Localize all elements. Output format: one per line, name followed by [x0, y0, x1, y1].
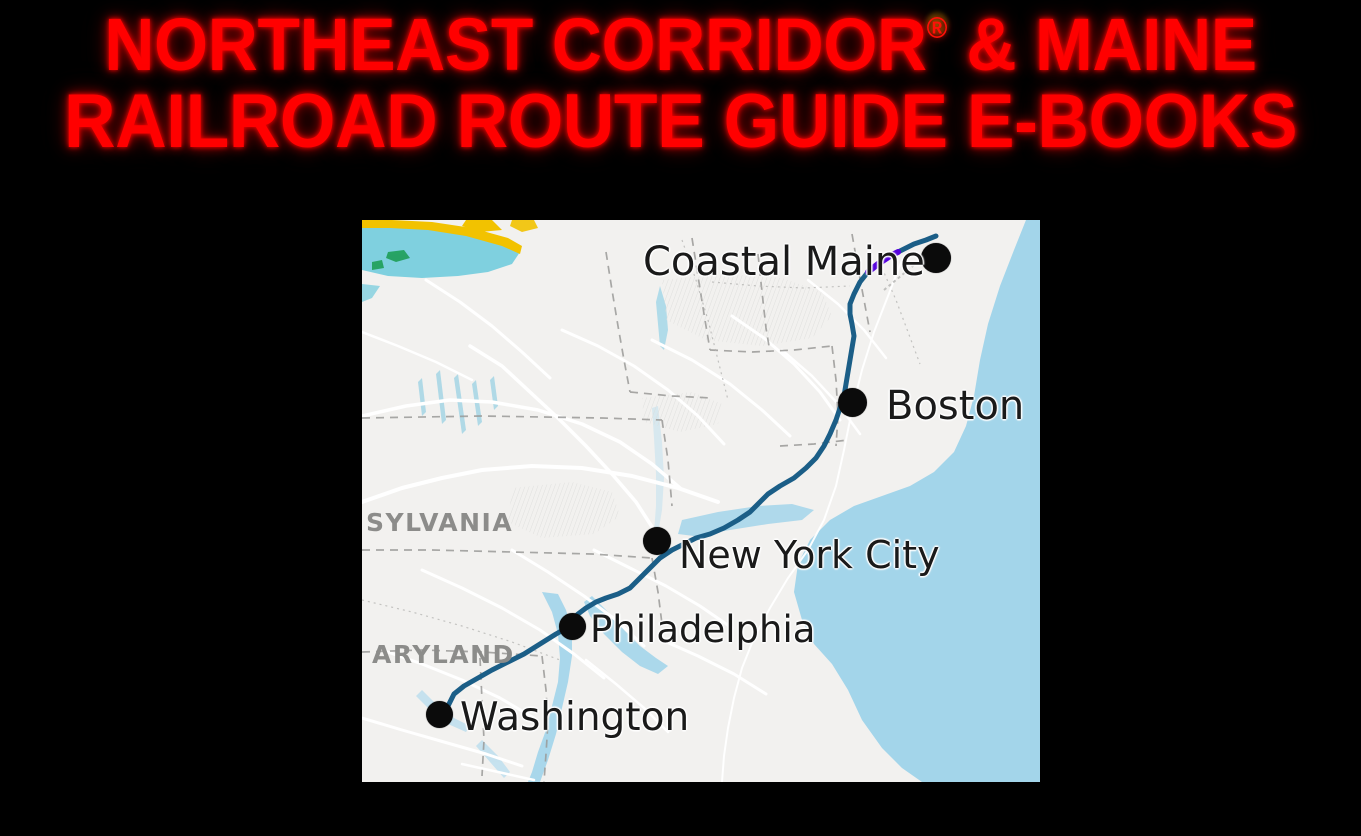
title-line-1-text-before-mark: NORTHEAST CORRIDOR [104, 3, 926, 86]
city-label-boston: Boston [886, 383, 1024, 429]
title-line-1-text-after-mark: & MAINE [947, 3, 1256, 86]
marker-new-york-city[interactable] [643, 527, 671, 555]
route-map[interactable]: SYLVANIA ARYLAND Coastal Maine Boston Ne… [362, 220, 1040, 782]
state-label-maryland: ARYLAND [372, 640, 515, 669]
city-label-coastal-maine: Coastal Maine [643, 239, 925, 285]
city-label-washington: Washington [460, 695, 689, 740]
city-label-philadelphia: Philadelphia [590, 608, 815, 651]
registered-trademark-icon: ® [927, 12, 948, 45]
state-label-pennsylvania: SYLVANIA [366, 508, 513, 537]
marker-philadelphia[interactable] [559, 613, 586, 640]
title-line-1: NORTHEAST CORRIDOR® & MAINE [41, 8, 1320, 82]
marker-coastal-maine[interactable] [921, 243, 951, 273]
title-line-2: RAILROAD ROUTE GUIDE E-BOOKS [41, 84, 1320, 160]
page-title: NORTHEAST CORRIDOR® & MAINE RAILROAD ROU… [0, 8, 1361, 160]
marker-washington[interactable] [426, 701, 453, 728]
city-label-new-york-city: New York City [679, 533, 940, 577]
marker-boston[interactable] [838, 388, 867, 417]
